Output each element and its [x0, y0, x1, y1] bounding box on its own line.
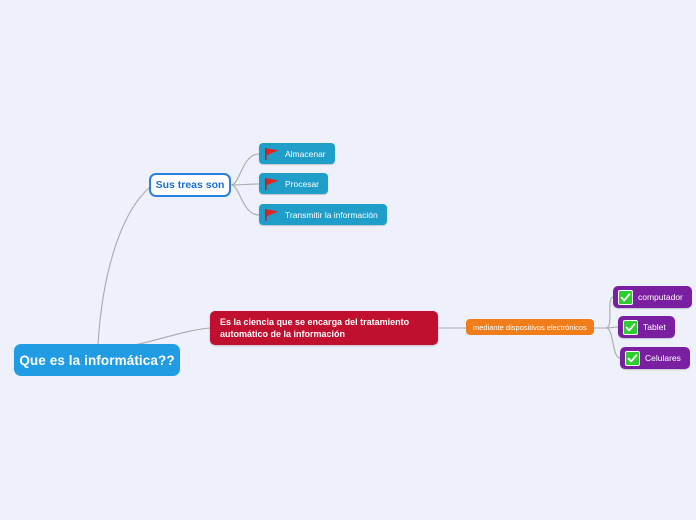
child-node-celulares-label: Celulares — [645, 353, 681, 363]
red-flag-icon — [264, 147, 280, 161]
connector-tareas-to-transmitir — [231, 185, 259, 215]
connector-tareas-to-almacenar — [231, 154, 259, 185]
branch-node-tareas[interactable]: Sus treas son — [149, 173, 231, 197]
child-node-transmitir-label: Transmitir la información — [285, 210, 378, 220]
red-flag-icon — [264, 177, 280, 191]
child-node-procesar-label: Procesar — [285, 179, 319, 189]
green-check-icon — [623, 320, 638, 335]
mindmap-canvas: Que es la informática?? Sus treas son Al… — [0, 0, 696, 520]
connector-dispositivos-to-tablet — [606, 327, 618, 328]
child-node-procesar[interactable]: Procesar — [259, 173, 328, 194]
branch-node-definicion[interactable]: Es la ciencia que se encarga del tratami… — [210, 311, 438, 345]
root-node[interactable]: Que es la informática?? — [14, 344, 180, 376]
child-node-almacenar-label: Almacenar — [285, 149, 326, 159]
connector-root-to-tareas — [98, 188, 149, 344]
child-node-computador[interactable]: computador — [613, 286, 692, 308]
child-node-almacenar[interactable]: Almacenar — [259, 143, 335, 164]
connector-lines — [0, 0, 696, 520]
child-node-transmitir[interactable]: Transmitir la información — [259, 204, 387, 225]
branch-node-tareas-label: Sus treas son — [156, 179, 225, 191]
green-check-icon — [625, 351, 640, 366]
child-node-tablet-label: Tablet — [643, 322, 666, 332]
child-node-celulares[interactable]: Celulares — [620, 347, 690, 369]
branch-node-definicion-label: Es la ciencia que se encarga del tratami… — [220, 316, 428, 340]
root-node-label: Que es la informática?? — [19, 353, 174, 368]
child-node-tablet[interactable]: Tablet — [618, 316, 675, 338]
connector-label-dispositivos-text: mediante dispositivos electrónicos — [473, 323, 587, 332]
child-node-computador-label: computador — [638, 292, 683, 302]
connector-label-dispositivos[interactable]: mediante dispositivos electrónicos — [466, 319, 594, 335]
connector-dispositivos-to-computador — [606, 297, 613, 328]
green-check-icon — [618, 290, 633, 305]
connector-tareas-to-procesar — [231, 184, 259, 185]
red-flag-icon — [264, 208, 280, 222]
